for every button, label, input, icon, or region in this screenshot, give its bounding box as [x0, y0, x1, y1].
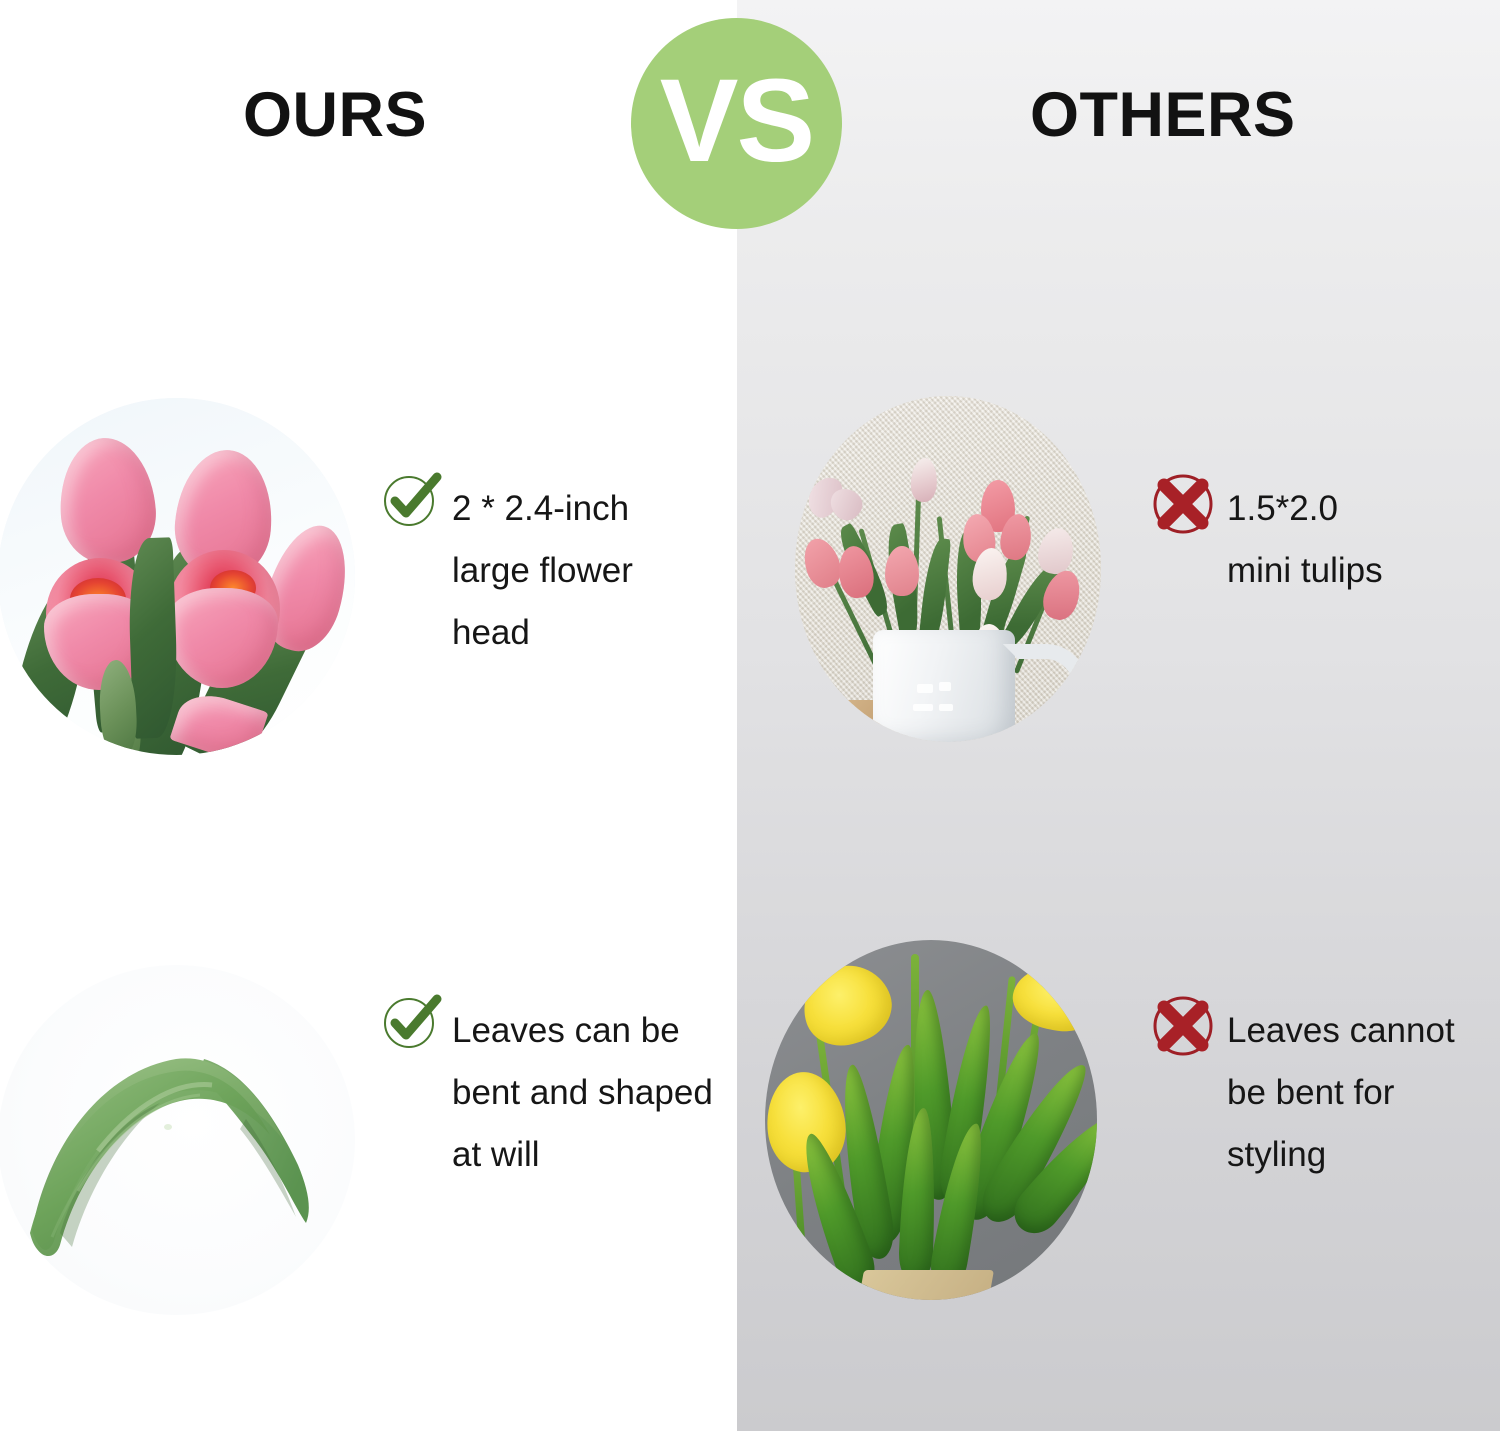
- feature-line: large flower: [452, 540, 633, 602]
- ours-row-0-image: [0, 398, 355, 755]
- feature-line: Leaves can be: [452, 1000, 713, 1062]
- cross-circle-icon: [1152, 995, 1208, 1051]
- ours-row-1-image: [0, 965, 355, 1315]
- vs-badge-label: VS: [660, 62, 813, 180]
- ours-row-0-text: 2 * 2.4-inch large flower head: [452, 478, 633, 664]
- feature-line: Leaves cannot: [1227, 1000, 1455, 1062]
- cross-circle-icon: [1152, 473, 1208, 529]
- feature-line: styling: [1227, 1124, 1455, 1186]
- others-heading: OTHERS: [1030, 84, 1296, 147]
- feature-line: head: [452, 602, 633, 664]
- white-pitcher: [873, 630, 1015, 742]
- ours-row-1-text: Leaves can be bent and shaped at will: [452, 1000, 713, 1186]
- vs-badge-circle: VS: [631, 18, 842, 229]
- feature-line: mini tulips: [1227, 540, 1383, 602]
- feature-line: be bent for: [1227, 1062, 1455, 1124]
- others-row-0-text: 1.5*2.0 mini tulips: [1227, 478, 1383, 602]
- check-circle-icon: [383, 995, 439, 1051]
- check-circle-icon: [383, 473, 439, 529]
- bent-leaf-graphic: [8, 1023, 346, 1273]
- others-row-0-image: [795, 396, 1101, 742]
- feature-line: bent and shaped: [452, 1062, 713, 1124]
- feature-line: 1.5*2.0: [1227, 478, 1383, 540]
- pitcher-handle: [1003, 644, 1089, 736]
- comparison-infographic: OURS OTHERS VS: [0, 0, 1500, 1431]
- others-row-1-text: Leaves cannot be bent for styling: [1227, 1000, 1455, 1186]
- others-row-1-image: [765, 940, 1097, 1300]
- feature-line: 2 * 2.4-inch: [452, 478, 633, 540]
- feature-line: at will: [452, 1124, 713, 1186]
- ours-heading: OURS: [243, 84, 427, 147]
